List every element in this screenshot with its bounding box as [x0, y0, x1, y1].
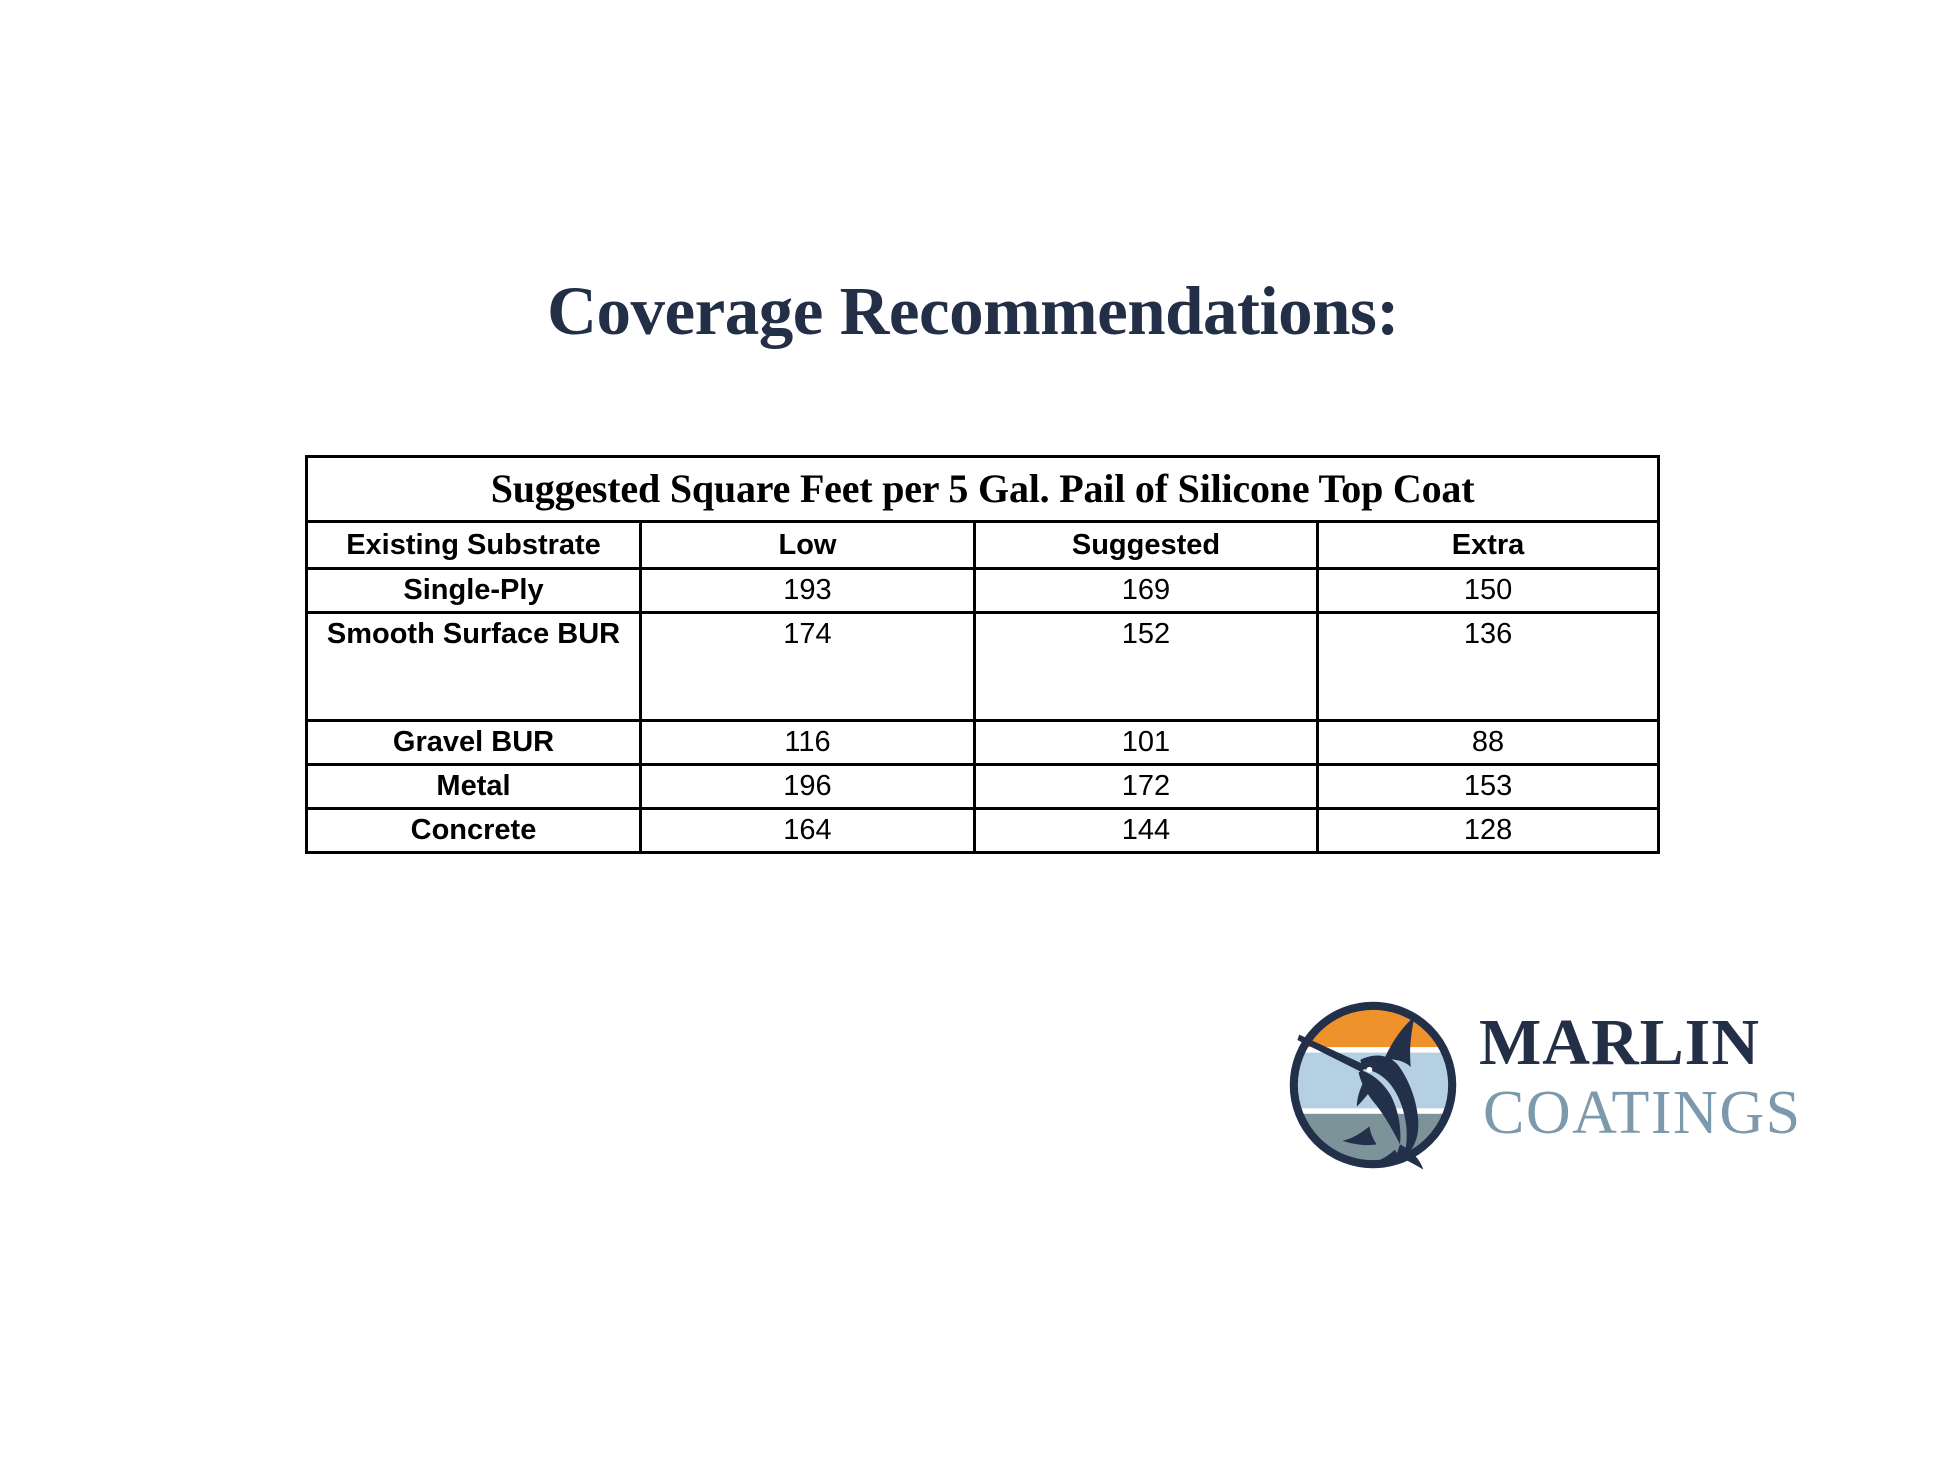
brand-logo: MARLIN COATINGS — [1283, 995, 1803, 1190]
logo-wordmark: MARLIN COATINGS — [1479, 1007, 1799, 1147]
cell-low: 116 — [641, 721, 975, 765]
cell-low: 164 — [641, 809, 975, 853]
table-row: Concrete 164 144 128 — [307, 809, 1659, 853]
cell-extra: 150 — [1318, 569, 1659, 613]
coverage-table: Suggested Square Feet per 5 Gal. Pail of… — [305, 455, 1660, 854]
cell-extra: 136 — [1318, 613, 1659, 721]
cell-suggested: 101 — [975, 721, 1318, 765]
table-row: Gravel BUR 116 101 88 — [307, 721, 1659, 765]
cell-suggested: 152 — [975, 613, 1318, 721]
cell-extra: 128 — [1318, 809, 1659, 853]
column-header-low: Low — [641, 522, 975, 569]
cell-low: 174 — [641, 613, 975, 721]
cell-suggested: 144 — [975, 809, 1318, 853]
column-header-extra: Extra — [1318, 522, 1659, 569]
cell-extra: 153 — [1318, 765, 1659, 809]
coverage-table-container: Suggested Square Feet per 5 Gal. Pail of… — [305, 455, 1657, 854]
cell-substrate: Smooth Surface BUR — [307, 613, 641, 721]
brand-name-primary: MARLIN — [1479, 1007, 1799, 1079]
table-row: Metal 196 172 153 — [307, 765, 1659, 809]
column-header-existing-substrate: Existing Substrate — [307, 522, 641, 569]
column-header-suggested: Suggested — [975, 522, 1318, 569]
table-row: Single-Ply 193 169 150 — [307, 569, 1659, 613]
cell-extra: 88 — [1318, 721, 1659, 765]
cell-suggested: 169 — [975, 569, 1318, 613]
cell-substrate: Gravel BUR — [307, 721, 641, 765]
cell-low: 193 — [641, 569, 975, 613]
cell-substrate: Metal — [307, 765, 641, 809]
cell-substrate: Single-Ply — [307, 569, 641, 613]
cell-low: 196 — [641, 765, 975, 809]
table-caption: Suggested Square Feet per 5 Gal. Pail of… — [307, 457, 1659, 522]
marlin-circle-icon — [1283, 995, 1463, 1175]
page-title: Coverage Recommendations: — [0, 272, 1946, 351]
table-caption-row: Suggested Square Feet per 5 Gal. Pail of… — [307, 457, 1659, 522]
table-header-row: Existing Substrate Low Suggested Extra — [307, 522, 1659, 569]
cell-substrate: Concrete — [307, 809, 641, 853]
brand-name-secondary: COATINGS — [1483, 1079, 1799, 1147]
cell-suggested: 172 — [975, 765, 1318, 809]
table-row: Smooth Surface BUR 174 152 136 — [307, 613, 1659, 721]
